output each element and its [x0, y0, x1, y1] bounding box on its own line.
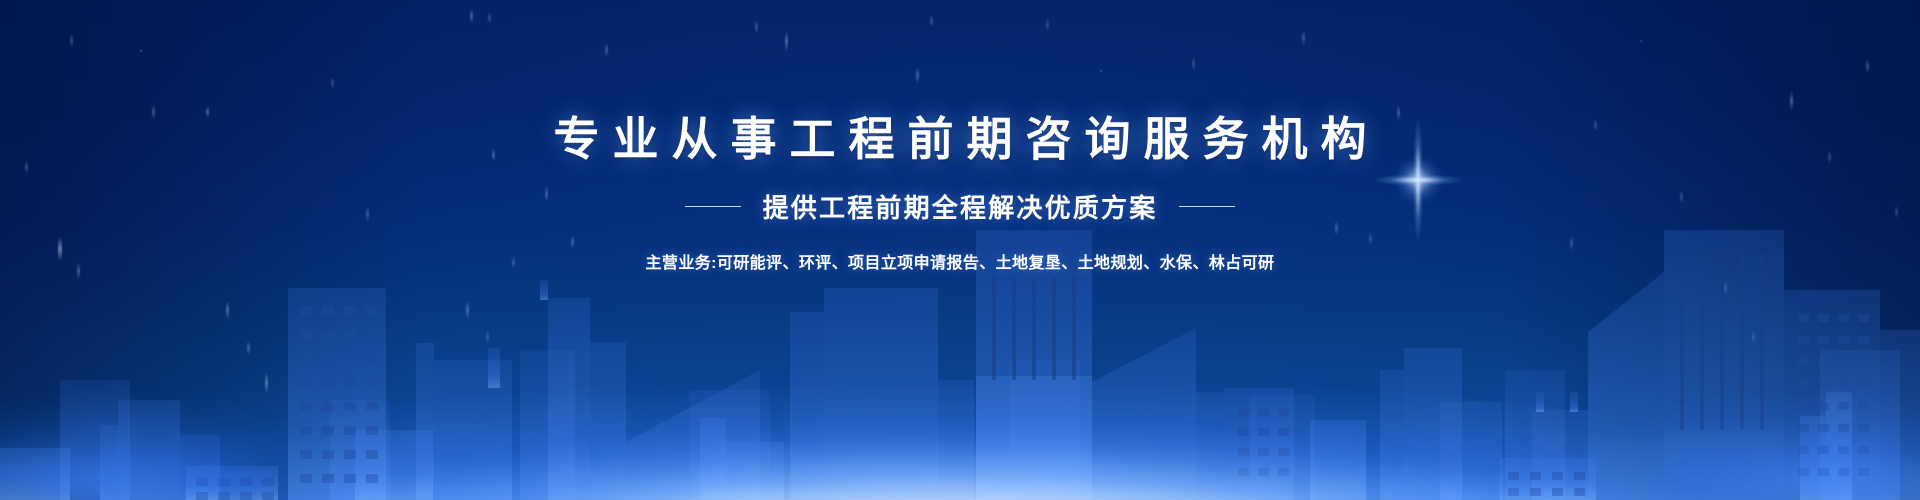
star-particle [1790, 90, 1793, 112]
page-title: 专业从事工程前期咨询服务机构 [0, 112, 1920, 166]
star-particle [470, 8, 473, 24]
subtitle-row: 提供工程前期全程解决优质方案 [0, 188, 1920, 225]
star-particle [488, 12, 491, 24]
star-particle [1640, 40, 1642, 42]
star-particle [1192, 56, 1195, 71]
star-particle [1302, 30, 1305, 46]
star-particle [1866, 58, 1869, 74]
divider-left [685, 206, 741, 207]
star-particle [140, 50, 142, 52]
star-particle [1046, 18, 1049, 31]
banner-subtitle: 提供工程前期全程解决优质方案 [763, 188, 1158, 225]
star-particle [605, 42, 608, 58]
hero-banner: 专业从事工程前期咨询服务机构 提供工程前期全程解决优质方案 主营业务:可研能评、… [0, 0, 1920, 500]
divider-right [1179, 206, 1235, 207]
star-particle [1100, 70, 1102, 72]
star-particle [331, 77, 334, 89]
star-particle [785, 30, 788, 52]
services-list: 主营业务:可研能评、环评、项目立项申请报告、土地复垦、土地规划、水保、林占可研 [0, 249, 1920, 273]
star-particle [755, 20, 758, 34]
star-particle [930, 14, 933, 28]
star-particle [916, 66, 919, 84]
banner-content: 专业从事工程前期咨询服务机构 提供工程前期全程解决优质方案 主营业务:可研能评、… [0, 112, 1920, 273]
star-particle [70, 33, 73, 48]
